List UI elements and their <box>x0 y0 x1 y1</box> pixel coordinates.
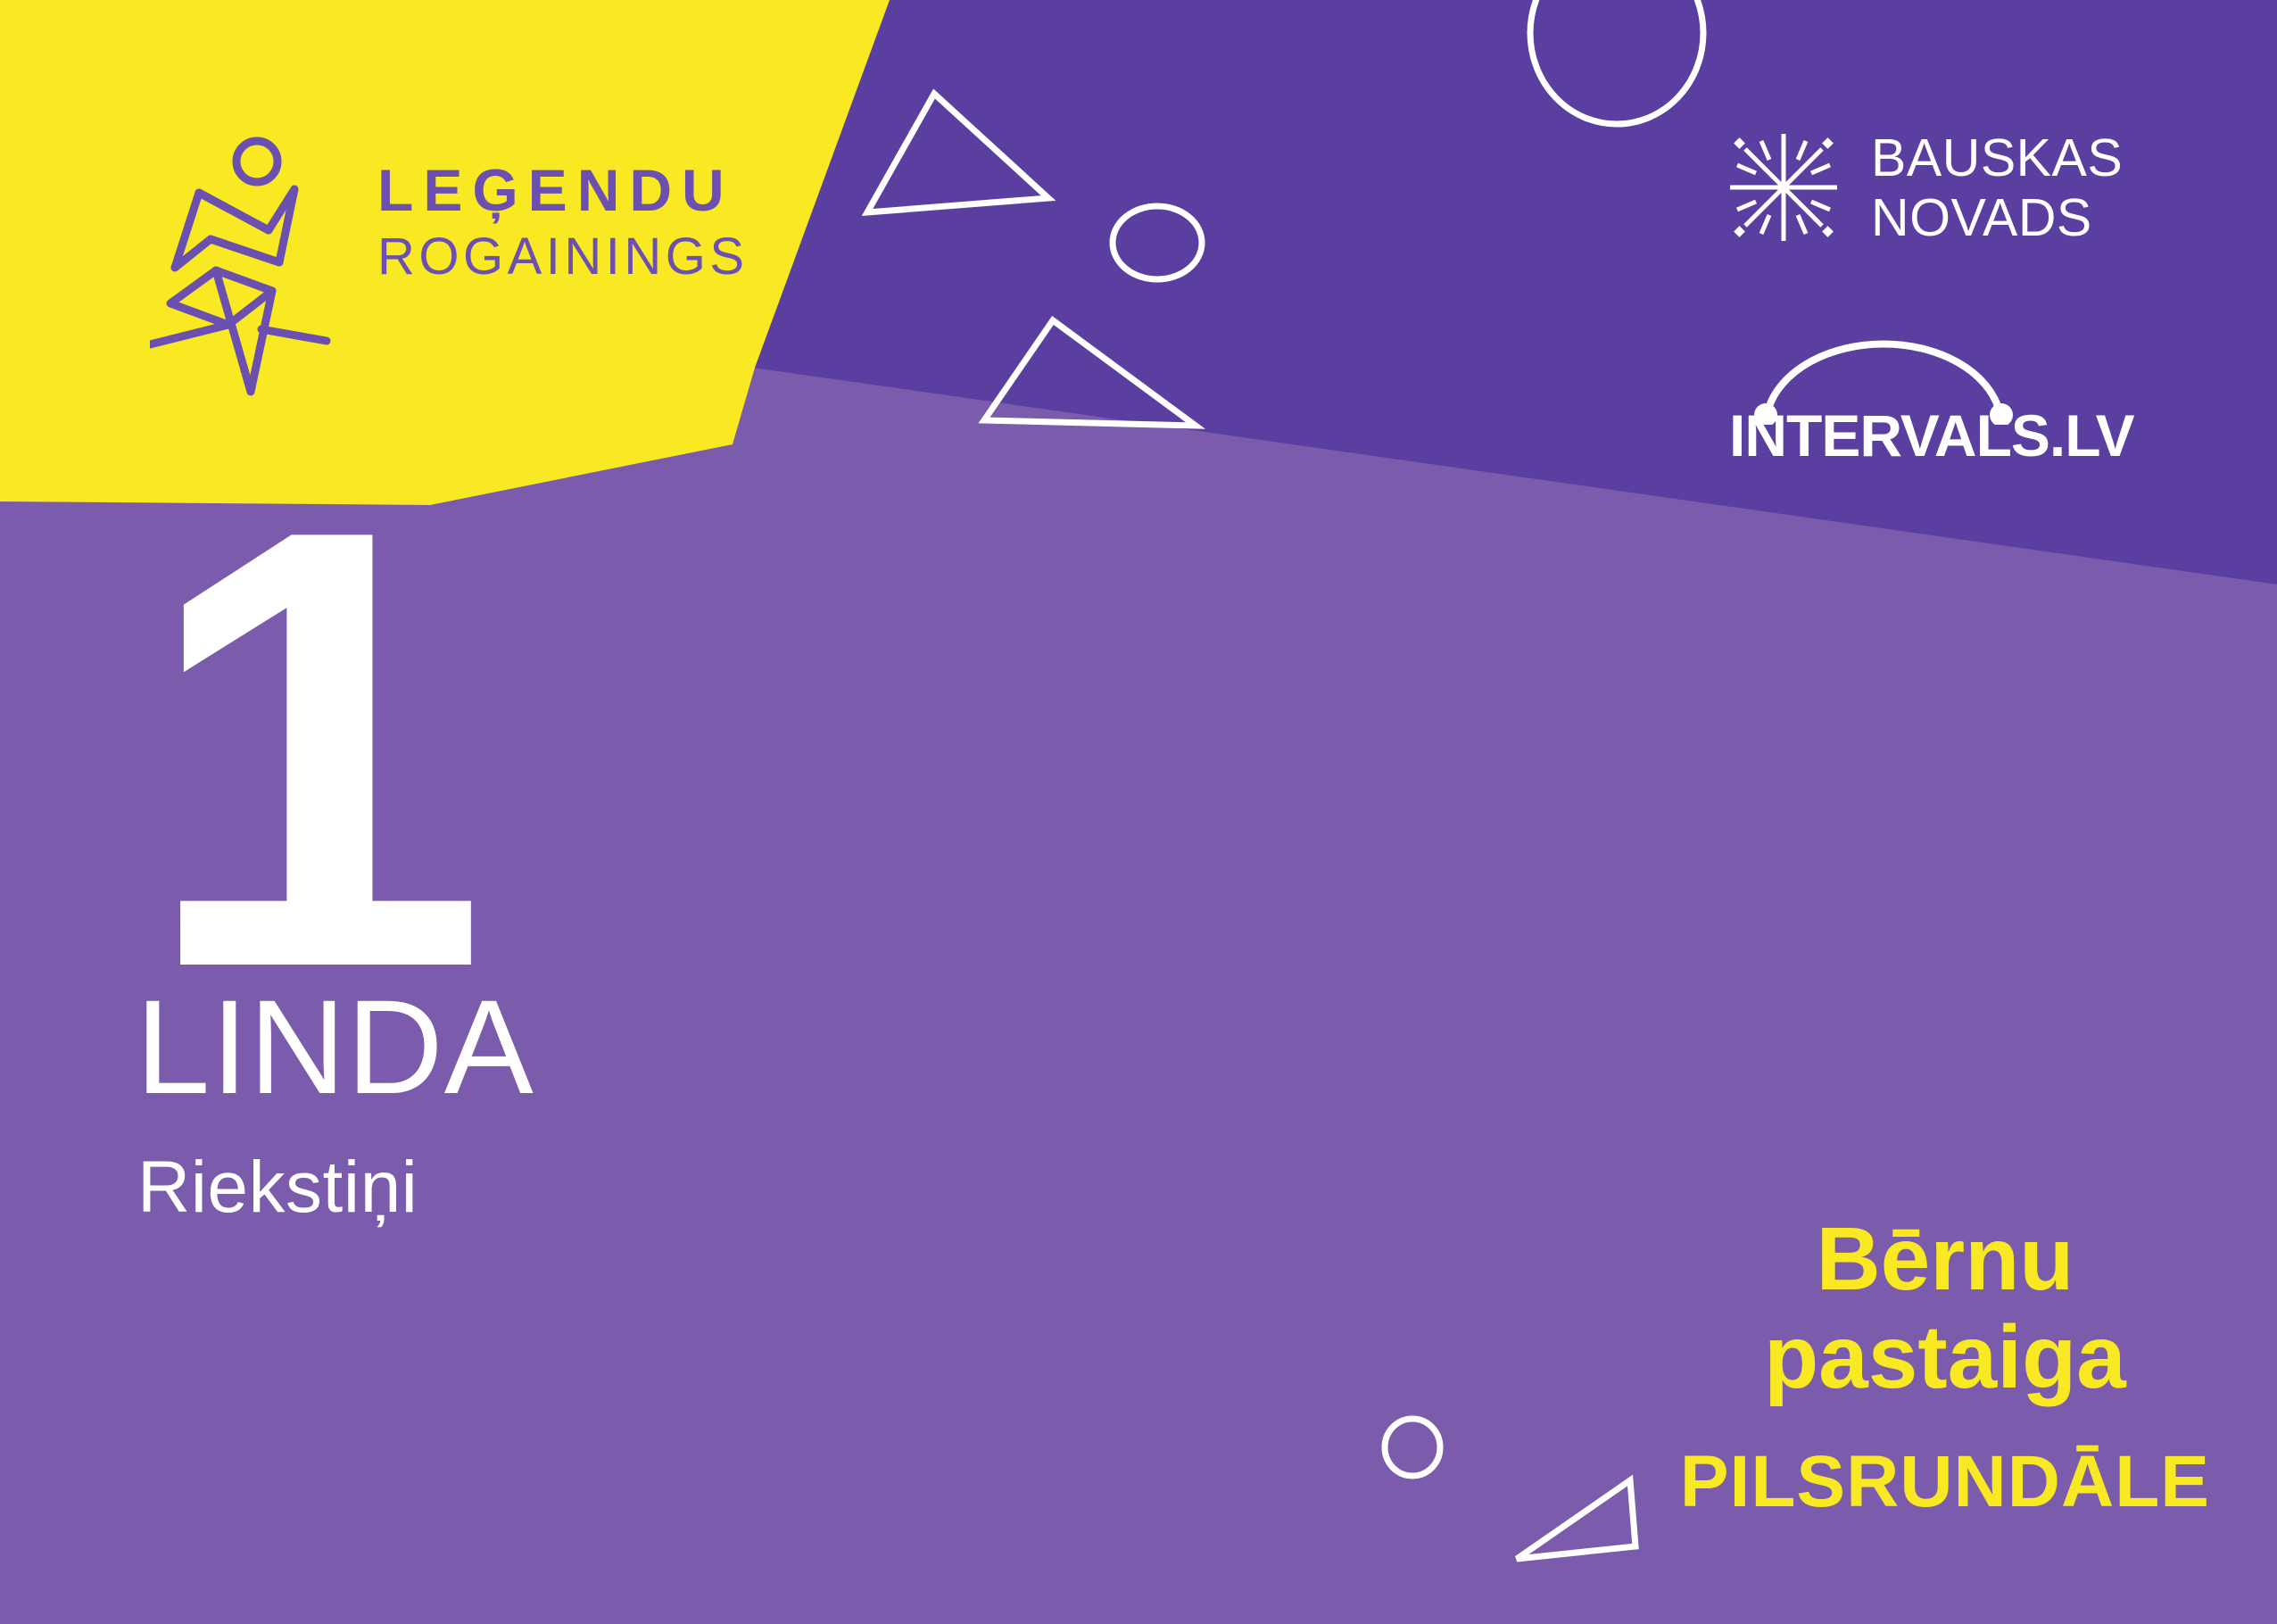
legendu-rogainings-logo: LEĢENDU ROGAININGS <box>150 132 774 400</box>
bauskas-wordmark: BAUSKAS NOVADS <box>1871 128 2123 249</box>
event-info-block: Bērnu pastaiga PILSRUNDĀLE <box>1680 1210 2210 1519</box>
legendu-line2: ROGAININGS <box>377 228 749 287</box>
control-info-block: 1 LINDA Riekstiņi <box>134 518 1115 1224</box>
bauskas-novads-logo: BAUSKAS NOVADS <box>1728 132 2228 266</box>
runner-figure-icon <box>150 132 342 400</box>
intervals-lv-logo: INTERVALS.LV <box>1729 328 2175 462</box>
legendu-line1: LEĢENDU <box>377 161 749 220</box>
control-name: LINDA <box>134 980 1115 1114</box>
intervals-wordmark: INTERVALS.LV <box>1729 402 2134 469</box>
event-control-card: LEĢENDU ROGAININGS BAUSKA <box>0 0 2277 1624</box>
event-location: PILSRUNDĀLE <box>1680 1446 2210 1519</box>
control-number: 1 <box>134 518 1115 980</box>
event-category: Bērnu pastaiga <box>1680 1210 2210 1406</box>
legendu-wordmark: LEĢENDU ROGAININGS <box>377 161 749 287</box>
bauskas-line2: NOVADS <box>1871 188 2123 248</box>
starburst-icon <box>1728 132 1839 243</box>
control-subtitle: Riekstiņi <box>134 1151 1115 1224</box>
bauskas-line1: BAUSKAS <box>1871 128 2123 188</box>
